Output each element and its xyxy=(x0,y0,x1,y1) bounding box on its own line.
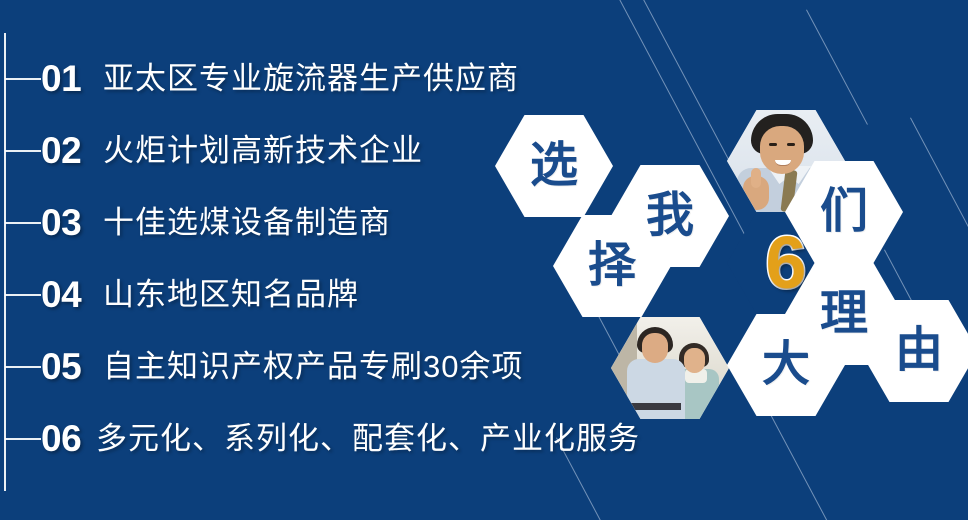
list-item-text: 十佳选煤设备制造商 xyxy=(103,207,391,238)
list-item-number: 06 xyxy=(41,420,96,457)
list-item-number: 02 xyxy=(41,132,103,169)
hex-glyph: 选 xyxy=(530,142,578,190)
list-tick-line xyxy=(5,222,41,224)
list-item-text: 山东地区知名品牌 xyxy=(103,279,359,310)
list-item-number: 01 xyxy=(41,60,103,97)
list-item-text: 火炬计划高新技术企业 xyxy=(103,135,423,166)
hex-glyph: 择 xyxy=(588,242,636,290)
list-tick-line xyxy=(5,294,41,296)
hex-glyph: 我 xyxy=(646,192,694,240)
list-tick-line xyxy=(5,438,41,440)
list-item-text: 自主知识产权产品专刷30余项 xyxy=(103,351,523,382)
list-tick-line xyxy=(5,78,41,80)
hex-glyph: 由 xyxy=(895,327,943,375)
list-item: 04 山东地区知名品牌 xyxy=(0,258,640,330)
list-item-text: 多元化、系列化、配套化、产业化服务 xyxy=(96,423,640,454)
hex-glyph: 们 xyxy=(820,188,868,236)
feature-list: 01 亚太区专业旋流器生产供应商 02 火炬计划高新技术企业 03 十佳选煤设备… xyxy=(0,42,640,474)
list-tick-line xyxy=(5,150,41,152)
diagonal-line-decoration xyxy=(910,118,968,233)
diagonal-line-decoration xyxy=(640,0,733,167)
list-item: 05 自主知识产权产品专刷30余项 xyxy=(0,330,640,402)
list-item: 06 多元化、系列化、配套化、产业化服务 xyxy=(0,402,640,474)
list-tick-line xyxy=(5,366,41,368)
diagonal-line-decoration xyxy=(806,10,868,125)
list-item: 01 亚太区专业旋流器生产供应商 xyxy=(0,42,640,114)
list-item-number: 03 xyxy=(41,204,103,241)
list-item-number: 04 xyxy=(41,276,103,313)
list-item-number: 05 xyxy=(41,348,103,385)
hex-glyph: 大 xyxy=(762,341,810,389)
promo-banner: 01 亚太区专业旋流器生产供应商 02 火炬计划高新技术企业 03 十佳选煤设备… xyxy=(0,0,968,520)
list-item-text: 亚太区专业旋流器生产供应商 xyxy=(103,63,519,94)
hex-glyph: 理 xyxy=(820,290,868,338)
